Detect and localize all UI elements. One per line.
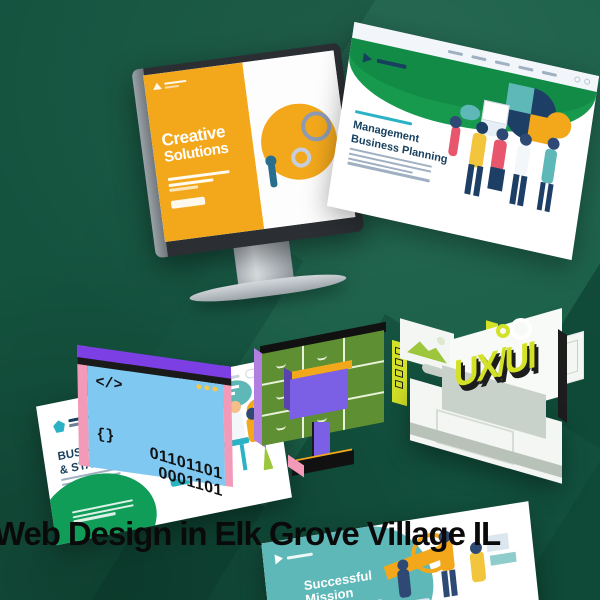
laptop-screen-edge	[558, 329, 567, 423]
image-icon	[407, 330, 447, 363]
arrow-icon	[275, 553, 284, 564]
code-brace-glyph: {}	[96, 426, 114, 446]
page-title: Web Design in Elk Grove Village IL	[0, 517, 500, 550]
code-tag-glyph: </>	[95, 374, 122, 395]
code-window-mockup: </> {} 01101101 0001101	[78, 356, 232, 476]
gear-icon	[496, 324, 510, 338]
monitor-screen: Creative Solutions	[143, 50, 355, 242]
people-illustration	[430, 70, 589, 249]
window-dots	[574, 75, 591, 84]
monitor-bezel: Creative Solutions	[131, 43, 364, 259]
hero-banner: Creative Solutions Management Business P…	[0, 0, 600, 600]
filing-cabinet-mockup	[252, 330, 402, 480]
logo-mark-icon	[52, 419, 66, 433]
arrow-icon	[362, 53, 372, 65]
sun-icon	[437, 336, 445, 346]
gear-icon	[510, 318, 532, 340]
code-window-frame: </> {} 01101101 0001101	[77, 345, 233, 487]
ux-ui-mockup: UX/UI	[392, 318, 598, 490]
